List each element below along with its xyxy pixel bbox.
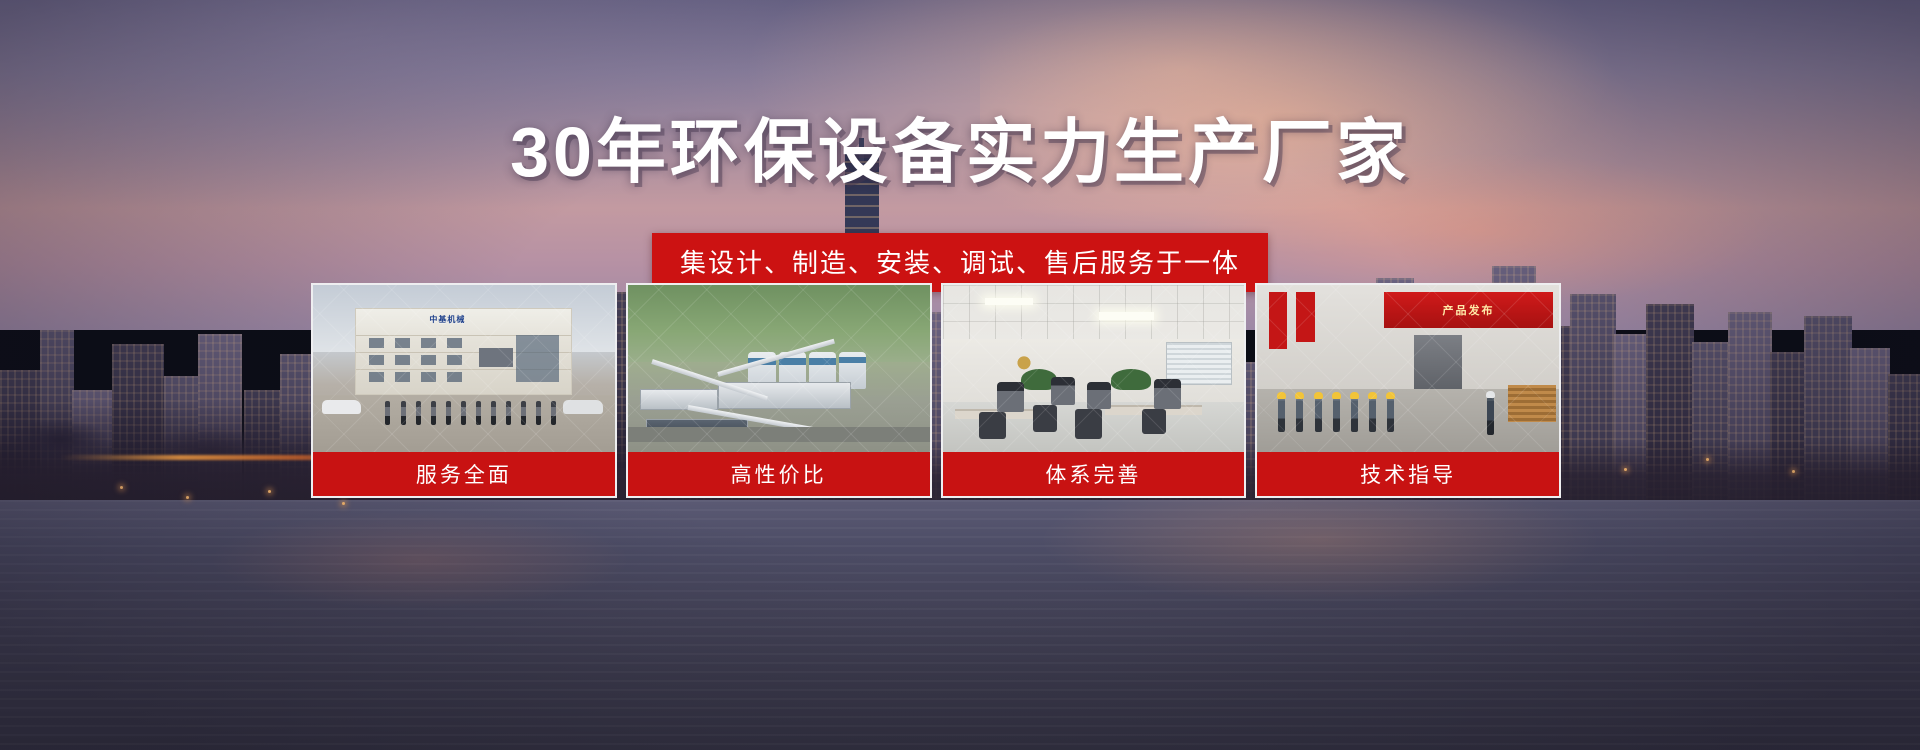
card-thumbnail-office-building: 中基机械 [313,285,615,452]
card-thumbnail-office-interior [943,285,1245,452]
card-thumbnail-plant-aerial [628,285,930,452]
card-caption: 技术指导 [1257,452,1559,496]
feature-card-list: 中基机械 [311,283,1561,498]
building-sign-text: 中基机械 [429,314,465,325]
card-caption: 高性价比 [628,452,930,496]
banner-headline: 30年环保设备实力生产厂家 [0,96,1920,197]
feature-card[interactable]: 产品发布 技术指导 [1255,283,1561,498]
card-caption: 服务全面 [313,452,615,496]
feature-card[interactable]: 体系完善 [941,283,1247,498]
workshop-banner-text: 产品发布 [1384,292,1553,329]
hero-banner: 30年环保设备实力生产厂家 集设计、制造、安装、调试、售后服务于一体 中基机械 [0,0,1920,750]
card-thumbnail-workshop: 产品发布 [1257,285,1559,452]
feature-card[interactable]: 高性价比 [626,283,932,498]
card-caption: 体系完善 [943,452,1245,496]
feature-card[interactable]: 中基机械 [311,283,617,498]
